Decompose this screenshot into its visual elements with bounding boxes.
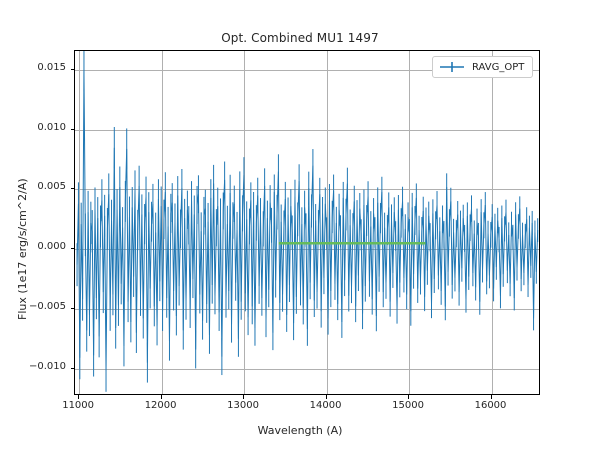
x-tick-mark [408,395,409,399]
x-tick-mark [491,395,492,399]
legend[interactable]: RAVG_OPT [432,56,533,78]
y-tick-mark [71,188,75,189]
x-axis-label: Wavelength (A) [0,424,600,437]
x-tick-label: 13000 [227,400,259,411]
plot-area [74,50,540,395]
errorbar-marker-icon [439,61,465,73]
y-tick-mark [71,368,75,369]
x-tick-label: 16000 [475,400,507,411]
y-tick-mark [71,69,75,70]
y-axis-label: Flux (1e17 erg/s/cm^2/A) [16,178,29,320]
x-tick-mark [78,395,79,399]
chart-title: Opt. Combined MU1 1497 [0,31,600,45]
x-tick-mark [326,395,327,399]
data-layer [75,51,539,394]
x-tick-mark [161,395,162,399]
x-tick-label: 14000 [310,400,342,411]
y-tick-mark [71,129,75,130]
x-tick-label: 11000 [62,400,94,411]
x-tick-label: 12000 [145,400,177,411]
series-canvas [75,51,540,395]
x-tick-label: 15000 [392,400,424,411]
legend-label-ravg-opt: RAVG_OPT [472,62,524,73]
x-tick-mark [243,395,244,399]
matplotlib-figure: Opt. Combined MU1 1497 11000120001300014… [0,0,600,450]
y-tick-mark [71,248,75,249]
y-tick-mark [71,308,75,309]
